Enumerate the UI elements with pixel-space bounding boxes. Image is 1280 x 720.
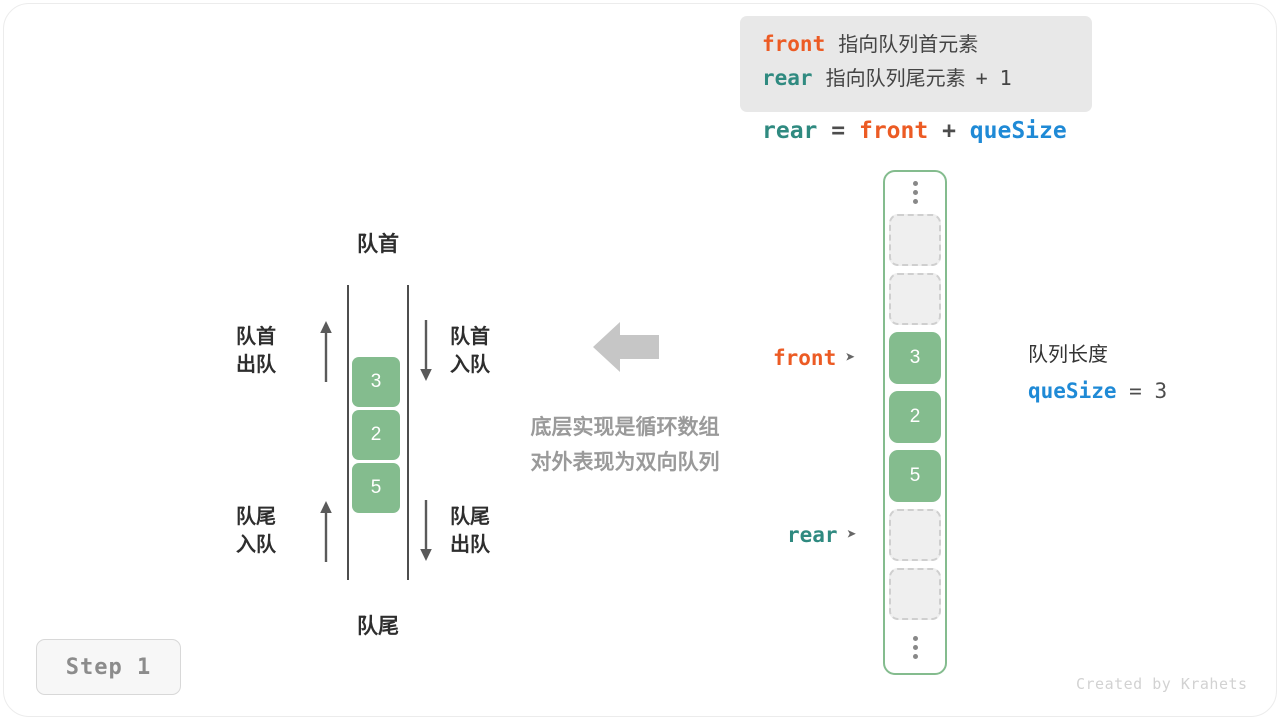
deque-slot-0: 3 — [352, 357, 400, 407]
credit-text: Created by Krahets — [1076, 675, 1248, 693]
dot — [913, 645, 918, 650]
deque-head-label: 队首 — [348, 228, 408, 258]
dot — [913, 199, 918, 204]
queue-size-info: 队列长度 queSize = 3 — [1028, 340, 1167, 403]
queue-size-name: queSize — [1028, 379, 1117, 403]
diagram-canvas: front 指向队列首元素 rear 指向队列尾元素 + 1 rear = fr… — [0, 0, 1280, 720]
pointer-front-label: front — [773, 346, 836, 370]
mapping-left-arrow-icon — [593, 320, 659, 379]
deque-slot-1: 2 — [352, 410, 400, 460]
dot — [913, 181, 918, 186]
arrow-down-head-enqueue — [418, 320, 434, 382]
op-label-line2: 出队 — [212, 351, 276, 379]
queue-size-value: 3 — [1154, 379, 1167, 403]
op-label-head-enqueue: 队首 入队 — [450, 323, 514, 379]
implementation-note: 底层实现是循环数组 对外表现为双向队列 — [503, 410, 747, 480]
array-cell-6 — [889, 568, 941, 620]
deque-tail-label: 队尾 — [348, 610, 408, 640]
legend-line-rear: rear 指向队列尾元素 + 1 — [762, 62, 1070, 96]
op-label-line1: 队首 — [450, 323, 514, 351]
array-cell-4: 5 — [889, 450, 941, 502]
formula-plus: + — [942, 118, 956, 144]
deque-slot-2: 5 — [352, 463, 400, 513]
pointer-arrow-icon: ➤ — [847, 525, 857, 545]
array-cell-value: 2 — [910, 406, 921, 428]
deque-slot-value: 5 — [371, 477, 382, 499]
step-badge: Step 1 — [36, 639, 181, 695]
op-label-line1: 队尾 — [212, 503, 276, 531]
op-label-tail-dequeue: 队尾 出队 — [450, 503, 514, 559]
deque-slot-value: 3 — [371, 371, 382, 393]
queue-size-equals: = — [1129, 379, 1142, 403]
array-dots-bottom — [889, 630, 941, 664]
op-label-line2: 入队 — [212, 531, 276, 559]
op-label-line2: 出队 — [450, 531, 514, 559]
deque-rail-right — [407, 285, 409, 580]
array-cell-2: 3 — [889, 332, 941, 384]
op-label-head-dequeue: 队首 出队 — [212, 323, 276, 379]
dot — [913, 654, 918, 659]
formula-rear-equals-front-plus-quesize: rear = front + queSize — [762, 118, 1067, 144]
op-label-tail-enqueue: 队尾 入队 — [212, 503, 276, 559]
implementation-note-line2: 对外表现为双向队列 — [503, 445, 747, 480]
array-cell-1 — [889, 273, 941, 325]
deque-rail-left — [347, 285, 349, 580]
legend-suffix-rear: + 1 — [976, 66, 1012, 90]
implementation-note-line1: 底层实现是循环数组 — [503, 410, 747, 445]
array-cell-5 — [889, 509, 941, 561]
arrow-up-head-dequeue — [318, 320, 334, 382]
legend-desc-front: 指向队列首元素 — [838, 28, 978, 57]
array-cell-value: 5 — [910, 465, 921, 487]
op-label-line1: 队首 — [212, 323, 276, 351]
dot — [913, 636, 918, 641]
legend-line-front: front 指向队列首元素 — [762, 28, 1070, 62]
legend-desc-rear: 指向队列尾元素 — [826, 62, 966, 91]
op-label-line1: 队尾 — [450, 503, 514, 531]
formula-quesize: queSize — [970, 118, 1067, 144]
dot — [913, 190, 918, 195]
legend-box: front 指向队列首元素 rear 指向队列尾元素 + 1 — [740, 16, 1092, 112]
arrow-up-tail-enqueue — [318, 500, 334, 562]
deque-slot-value: 2 — [371, 424, 382, 446]
array-cell-value: 3 — [910, 347, 921, 369]
array-cell-0 — [889, 214, 941, 266]
pointer-front: front ➤ — [773, 346, 855, 370]
legend-keyword-rear: rear — [762, 66, 813, 90]
op-label-line2: 入队 — [450, 351, 514, 379]
pointer-rear-label: rear — [787, 523, 838, 547]
arrow-down-tail-dequeue — [418, 500, 434, 562]
formula-front: front — [859, 118, 928, 144]
pointer-arrow-icon: ➤ — [845, 348, 855, 368]
formula-rear: rear — [762, 118, 817, 144]
pointer-rear: rear ➤ — [787, 523, 857, 547]
queue-size-title: 队列长度 — [1028, 340, 1167, 370]
legend-keyword-front: front — [762, 32, 825, 56]
array-dots-top — [889, 175, 941, 209]
array-cell-3: 2 — [889, 391, 941, 443]
queue-size-expression: queSize = 3 — [1028, 379, 1167, 403]
formula-equals: = — [831, 118, 845, 144]
